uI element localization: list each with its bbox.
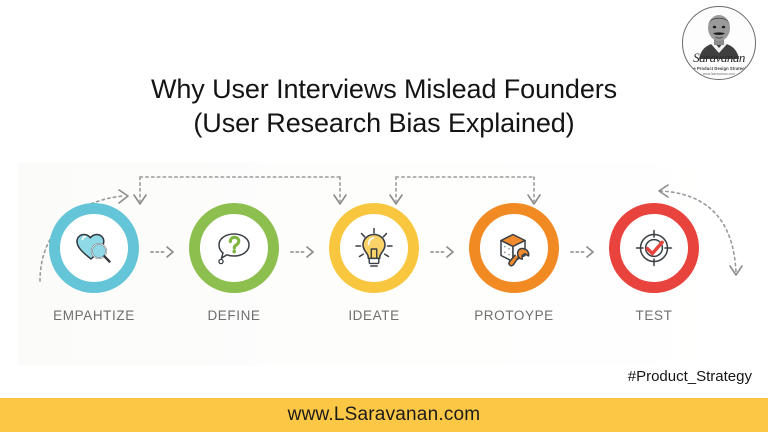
- stage-ring-prototype: [469, 203, 559, 293]
- stage-label-prototype: PROTOYPE: [466, 308, 562, 323]
- connector-arrow-4: [570, 245, 596, 259]
- page-title: Why User Interviews Mislead Founders (Us…: [0, 72, 768, 140]
- connector-arrow-1: [150, 245, 176, 259]
- stage-ideate[interactable]: IDEATE: [326, 203, 422, 323]
- stage-list: EMPAHTIZE DEFINE: [18, 163, 758, 365]
- heart-magnifier-icon: [72, 226, 116, 270]
- stage-label-empathize: EMPAHTIZE: [46, 308, 142, 323]
- cube-wrench-icon: [492, 226, 536, 270]
- connector-arrow-3: [430, 245, 456, 259]
- target-check-icon: [632, 226, 676, 270]
- stage-label-define: DEFINE: [186, 308, 282, 323]
- logo-signature: Saravanan: [683, 51, 755, 64]
- brand-logo: Saravanan The Product Design Strategist …: [682, 6, 756, 80]
- stage-empathize[interactable]: EMPAHTIZE: [46, 203, 142, 323]
- footer-website-url[interactable]: www.LSaravanan.com: [288, 404, 481, 426]
- stage-label-test: TEST: [606, 308, 702, 323]
- stage-ring-ideate: [329, 203, 419, 293]
- title-line-2: (User Research Bias Explained): [0, 106, 768, 140]
- stage-ring-test: [609, 203, 699, 293]
- stage-define[interactable]: DEFINE: [186, 203, 282, 323]
- footer-bar: www.LSaravanan.com: [0, 398, 768, 432]
- hashtag-label: #Product_Strategy: [628, 368, 752, 385]
- stage-test[interactable]: TEST: [606, 203, 702, 323]
- stage-label-ideate: IDEATE: [326, 308, 422, 323]
- logo-circle-border: Saravanan The Product Design Strategist …: [682, 6, 756, 80]
- stage-ring-define: [189, 203, 279, 293]
- stage-prototype[interactable]: PROTOYPE: [466, 203, 562, 323]
- lightbulb-icon: [351, 225, 397, 271]
- logo-tagline: The Product Design Strategist: [683, 67, 755, 71]
- stage-ring-empathize: [49, 203, 139, 293]
- connector-arrow-2: [290, 245, 316, 259]
- title-line-1: Why User Interviews Mislead Founders: [0, 72, 768, 106]
- design-thinking-diagram: EMPAHTIZE DEFINE: [18, 163, 758, 365]
- thought-bubble-question-icon: [212, 226, 256, 270]
